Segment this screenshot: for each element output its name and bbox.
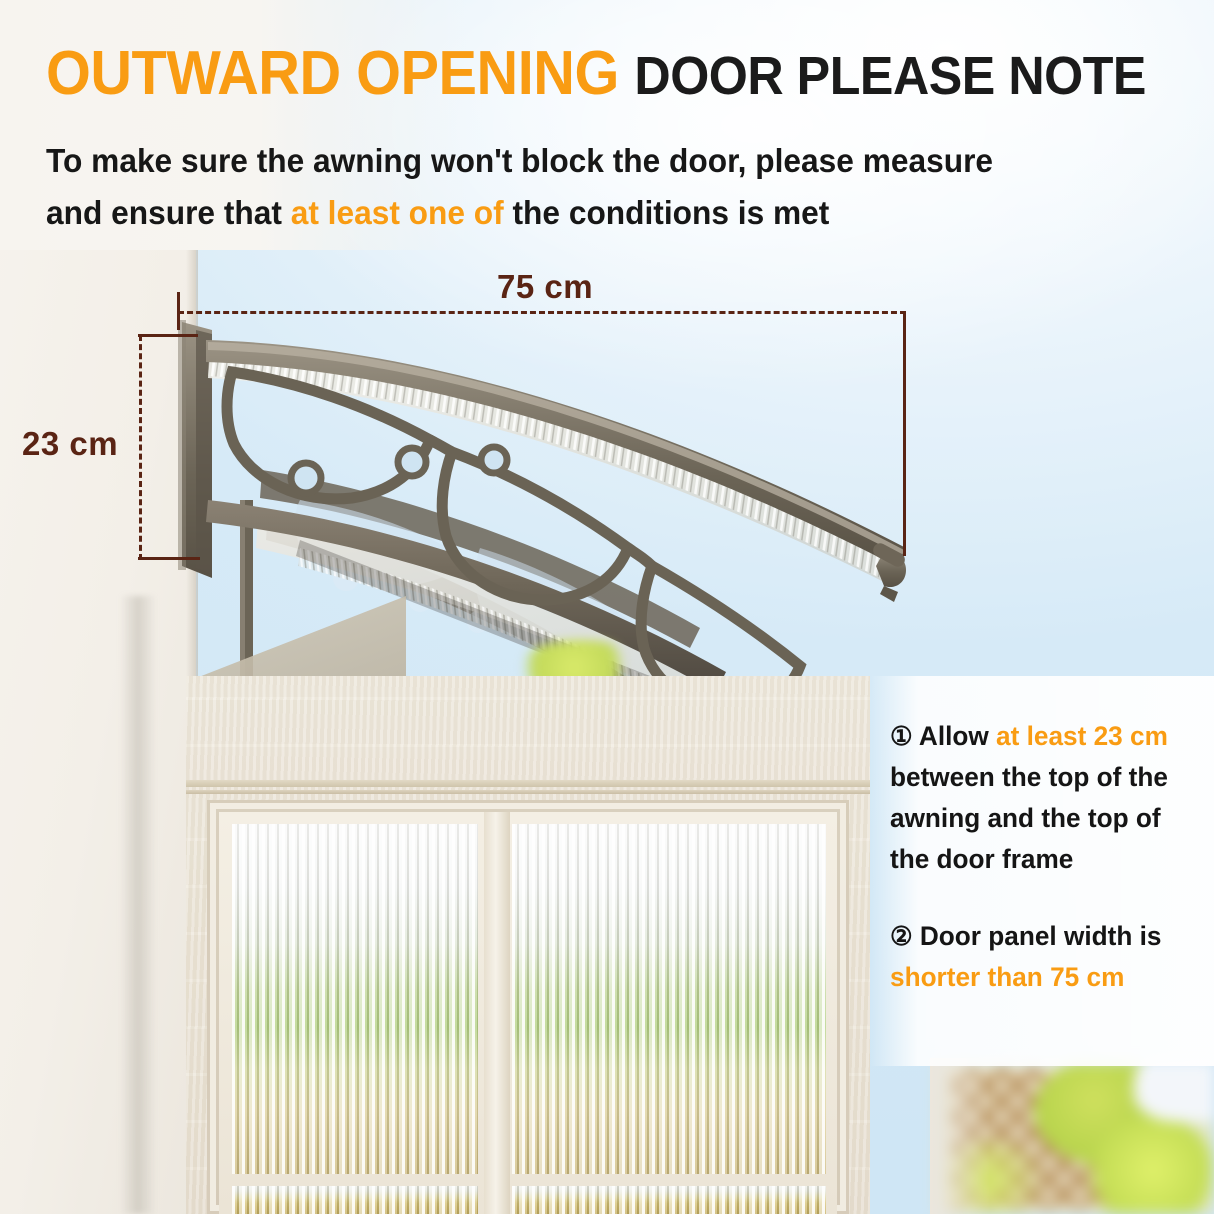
subtitle-line-2-lead: and ensure that — [46, 194, 291, 231]
page-title: OUTWARD OPENING DOOR PLEASE NOTE — [46, 38, 1146, 109]
page-subtitle: To make sure the awning won't block the … — [46, 135, 1092, 239]
condition-2-highlight-1: shorter than — [890, 962, 1043, 992]
garden-fade-mask — [930, 1058, 990, 1214]
subtitle-line-2: and ensure that at least one of the cond… — [46, 187, 1092, 239]
condition-1-highlight-2: 23 cm — [1094, 721, 1168, 751]
title-orange-part: OUTWARD OPENING — [46, 39, 619, 108]
reeded-glass-left — [232, 824, 478, 1174]
width-dimension-tick-right — [903, 311, 906, 556]
condition-1-seg3: between the top of the awning and the to… — [890, 762, 1168, 874]
door-lintel-lower — [186, 790, 870, 794]
door-glass-lower-right — [512, 1186, 826, 1214]
subtitle-line-2-tail: the conditions is met — [504, 194, 830, 231]
reeded-glass-right — [512, 824, 826, 1174]
width-dimension-label: 75 cm — [497, 268, 593, 306]
height-dimension-label: 23 cm — [22, 425, 118, 463]
condition-2-number: ② — [890, 921, 913, 951]
height-dimension-tick-top — [138, 334, 198, 337]
door-mullion — [484, 812, 510, 1214]
title-black-part: DOOR PLEASE NOTE — [634, 46, 1146, 106]
height-dimension-tick-bottom — [138, 557, 200, 560]
condition-1-number: ① — [890, 721, 913, 751]
condition-2-seg2 — [1043, 962, 1050, 992]
width-dimension-line — [178, 311, 906, 314]
door-lintel-upper — [186, 780, 870, 787]
condition-1-seg1: Allow — [913, 721, 996, 751]
door-glass-upper-right — [512, 824, 826, 1174]
condition-1-seg2 — [1086, 721, 1093, 751]
infographic-canvas: OUTWARD OPENING DOOR PLEASE NOTE To make… — [0, 0, 1214, 1214]
door-glass-upper-left — [232, 824, 478, 1174]
subtitle-highlight: at least one of — [291, 194, 504, 231]
reeded-glass-lower-right — [512, 1186, 826, 1214]
conditions-list: ① Allow at least 23 cm between the top o… — [890, 716, 1197, 1034]
condition-2-seg1: Door panel width is — [913, 921, 1162, 951]
condition-item-1: ① Allow at least 23 cm between the top o… — [890, 716, 1197, 880]
door-glass-lower-left — [232, 1186, 478, 1214]
subtitle-line-1-text: To make sure the awning won't block the … — [46, 142, 993, 179]
height-dimension-line — [139, 335, 142, 560]
wall-cast-shadow — [120, 596, 156, 1214]
reeded-glass-lower-left — [232, 1186, 478, 1214]
condition-2-highlight-2: 75 cm — [1050, 962, 1124, 992]
condition-item-2: ② Door panel width is shorter than 75 cm — [890, 916, 1197, 998]
subtitle-line-1: To make sure the awning won't block the … — [46, 135, 1092, 187]
condition-1-highlight-1: at least — [996, 721, 1086, 751]
